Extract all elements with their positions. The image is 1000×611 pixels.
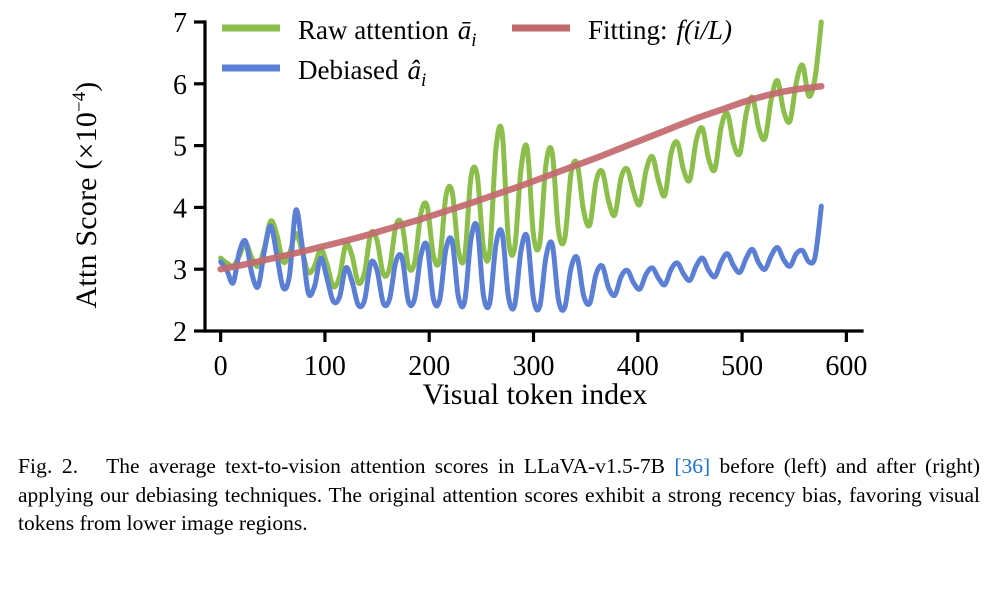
y-tick-label-3: 3 — [173, 255, 187, 286]
legend-label-raw-attention: Raw attentionāi — [298, 15, 477, 51]
legend-label-debiased: Debiasedâi — [298, 55, 426, 91]
y-tick-label-5: 5 — [173, 132, 187, 163]
y-axis-label: Attn Score (×10−4) — [66, 45, 106, 345]
legend-label-fitting: Fitting:f(i/L) — [588, 15, 732, 45]
legend-entry-raw-attention: Raw attentionāi — [222, 15, 477, 51]
legend-entry-fitting: Fitting:f(i/L) — [512, 15, 732, 45]
series-line-debiased — [221, 206, 822, 310]
y-axis-exponent: −4 — [69, 92, 90, 112]
chart-legend: Raw attentionāiFitting:f(i/L)Debiasedâ… — [222, 15, 732, 91]
caption-citation-link[interactable]: [36] — [674, 454, 710, 478]
y-tick-label-2: 2 — [173, 317, 187, 348]
y-tick-label-6: 6 — [173, 70, 187, 101]
y-axis-label-text: Attn Score (×10−4) — [69, 82, 104, 309]
figure-caption: Fig. 2. The average text-to-vision atten… — [18, 452, 980, 538]
y-tick-label-7: 7 — [173, 8, 187, 39]
x-axis-label: Visual token index — [205, 378, 865, 412]
caption-figure-number: Fig. 2. — [18, 454, 78, 478]
legend-entry-debiased: Debiasedâi — [222, 55, 426, 91]
figure-2: 2345670100200300400500600 Raw attentiona… — [0, 0, 1000, 440]
attention-score-line-chart: 2345670100200300400500600 Raw attentiona… — [0, 0, 1000, 440]
caption-text-part1: The average text-to-vision attention sco… — [106, 454, 674, 478]
y-tick-label-4: 4 — [173, 193, 187, 224]
